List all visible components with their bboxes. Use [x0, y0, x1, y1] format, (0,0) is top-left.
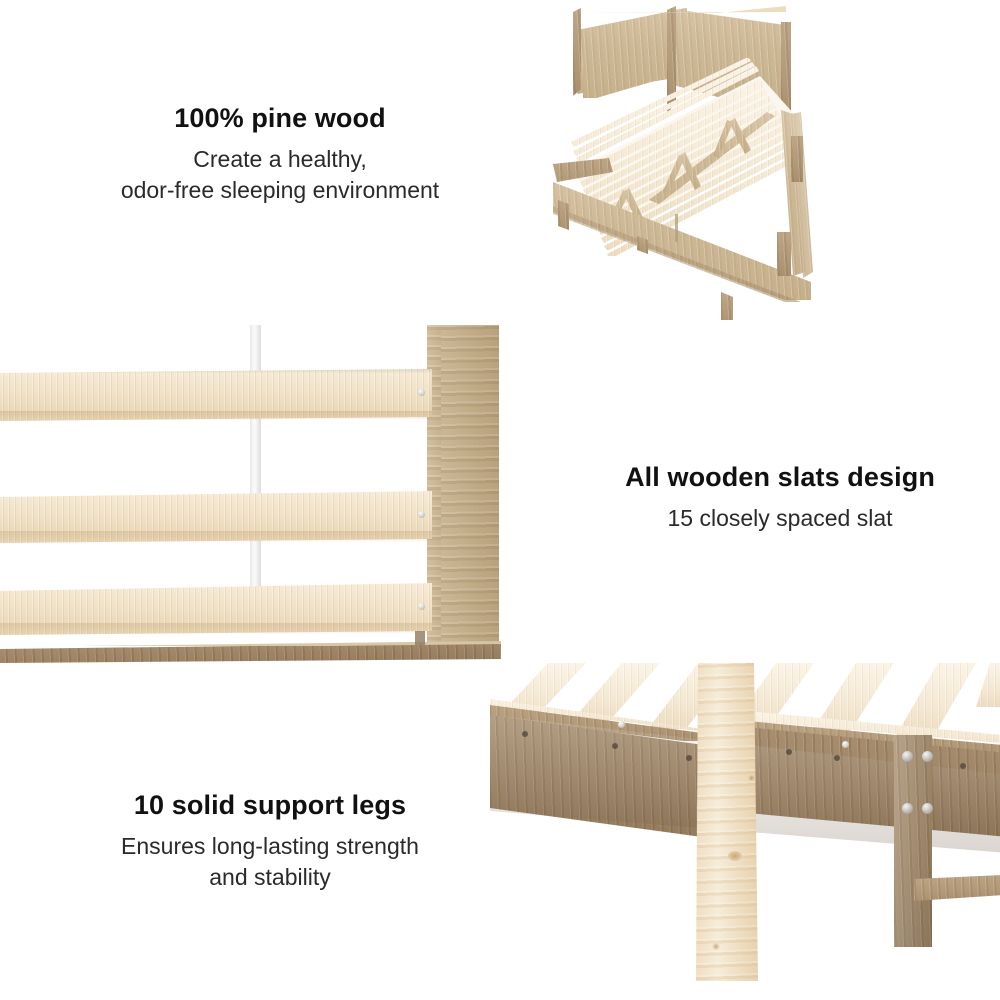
feature-wooden-slats-subtext: 15 closely spaced slat: [560, 503, 1000, 534]
support-leg-photo: [490, 663, 1000, 1000]
slat-closeup-photo: [0, 325, 505, 665]
feature-support-legs-subtext-line2: and stability: [10, 862, 530, 893]
feature-support-legs-heading: 10 solid support legs: [10, 790, 530, 821]
feature-pine-wood: 100% pine wood Create a healthy, odor-fr…: [20, 103, 540, 205]
feature-pine-wood-subtext: Create a healthy, odor-free sleeping env…: [20, 144, 540, 205]
feature-pine-wood-subtext-line1: Create a healthy,: [20, 144, 540, 175]
feature-pine-wood-subtext-line2: odor-free sleeping environment: [20, 175, 540, 206]
feature-wooden-slats: All wooden slats design 15 closely space…: [560, 462, 1000, 534]
feature-support-legs: 10 solid support legs Ensures long-lasti…: [10, 790, 530, 892]
feature-wooden-slats-heading: All wooden slats design: [560, 462, 1000, 493]
infographic-canvas: 100% pine wood Create a healthy, odor-fr…: [0, 0, 1000, 1000]
feature-support-legs-subtext: Ensures long-lasting strength and stabil…: [10, 831, 530, 892]
bed-frame-photo: [545, 0, 1000, 320]
feature-wooden-slats-subtext-line1: 15 closely spaced slat: [560, 503, 1000, 534]
feature-support-legs-subtext-line1: Ensures long-lasting strength: [10, 831, 530, 862]
feature-pine-wood-heading: 100% pine wood: [20, 103, 540, 134]
